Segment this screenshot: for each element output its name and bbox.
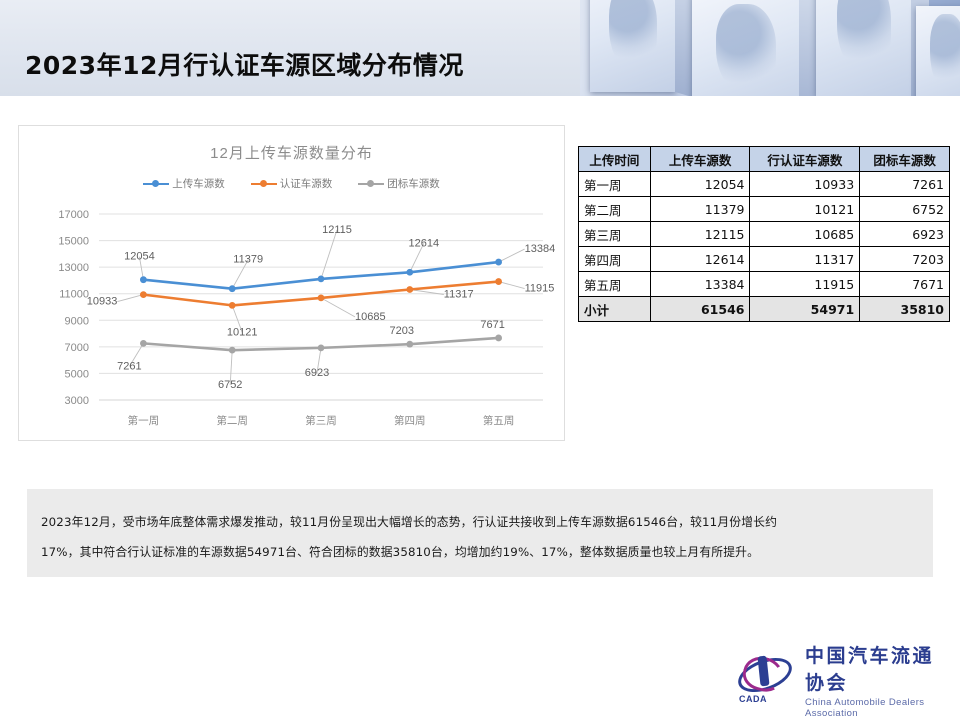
data-label: 11317: [444, 289, 474, 301]
x-axis-tick-label: 第五周: [483, 414, 514, 427]
data-label: 6752: [218, 379, 242, 391]
legend-label-group-std: 团标车源数: [387, 176, 440, 191]
legend-item-uploaded[interactable]: 上传车源数: [143, 176, 225, 191]
cell-uploaded: 11379: [650, 197, 750, 222]
legend-label-uploaded: 上传车源数: [172, 176, 225, 191]
data-label: 12115: [322, 224, 352, 236]
table-row: 第一周12054109337261: [579, 172, 950, 197]
data-label: 10121: [227, 326, 258, 338]
table-header-uploaded: 上传车源数: [650, 147, 750, 172]
data-label: 12614: [409, 237, 440, 249]
y-axis-tick-label: 13000: [58, 262, 89, 274]
series-point: [140, 340, 147, 347]
x-axis-tick-label: 第一周: [128, 414, 160, 427]
note-line-2: 17%，其中符合行认证标准的车源数据54971台、符合团标的数据35810台，均…: [41, 537, 919, 567]
data-label: 11915: [525, 283, 555, 295]
table-header-row: 上传时间 上传车源数 行认证车源数 团标车源数: [579, 147, 950, 172]
cell-week: 第三周: [579, 222, 651, 247]
data-label-leader-line: [117, 295, 143, 302]
y-axis-tick-label: 3000: [65, 395, 89, 407]
y-axis-tick-label: 9000: [65, 315, 89, 327]
series-line-1: [143, 262, 498, 289]
cell-certified: 10933: [750, 172, 860, 197]
y-axis-tick-label: 15000: [58, 236, 89, 248]
cell-week: 第二周: [579, 197, 651, 222]
series-point: [406, 286, 413, 293]
logo-name-en: China Automobile Dealers Association: [805, 697, 945, 719]
data-label-leader-line: [499, 249, 525, 262]
data-label: 10685: [355, 311, 386, 323]
total-uploaded: 61546: [650, 297, 750, 322]
series-point: [495, 335, 502, 342]
legend-label-certified: 认证车源数: [280, 176, 333, 191]
series-point: [406, 269, 413, 276]
series-point: [229, 302, 236, 309]
cell-certified: 10121: [750, 197, 860, 222]
data-label: 10933: [87, 296, 118, 308]
data-label: 12054: [124, 251, 155, 263]
header-decoration-image: [580, 0, 960, 96]
series-point: [140, 291, 147, 298]
y-axis-tick-label: 5000: [65, 368, 89, 380]
organization-logo: CADA 中国汽车流通协会 China Automobile Dealers A…: [735, 652, 945, 708]
data-label-leader-line: [321, 298, 355, 317]
data-table: 上传时间 上传车源数 行认证车源数 团标车源数 第一周1205410933726…: [578, 146, 950, 322]
series-point: [495, 259, 502, 266]
y-axis-tick-label: 7000: [65, 342, 89, 354]
data-label: 7671: [480, 319, 504, 331]
chart-panel: 12月上传车源数量分布 上传车源数 认证车源数 团标车源数 3000500070…: [18, 125, 565, 441]
deco-cube-2: [692, 0, 800, 96]
page-title: 2023年12月行认证车源区域分布情况: [25, 46, 464, 82]
series-point: [318, 294, 325, 301]
line-chart-svg: 300050007000900011000130001500017000第一周第…: [19, 204, 566, 442]
note-box: 2023年12月，受市场年底整体需求爆发推动，较11月份呈现出大幅增长的态势，行…: [27, 489, 933, 577]
data-label: 6923: [305, 367, 329, 379]
data-label: 7203: [390, 325, 414, 337]
cell-group-std: 7261: [860, 172, 950, 197]
series-point: [229, 285, 236, 292]
data-label: 11379: [233, 254, 263, 266]
deco-cube-1: [590, 0, 676, 92]
table-total-row: 小计615465497135810: [579, 297, 950, 322]
cell-uploaded: 12054: [650, 172, 750, 197]
cell-uploaded: 13384: [650, 272, 750, 297]
table-row: 第五周13384119157671: [579, 272, 950, 297]
data-label-leader-line: [321, 230, 337, 279]
chart-legend: 上传车源数 认证车源数 团标车源数: [19, 176, 564, 191]
cell-week: 第一周: [579, 172, 651, 197]
legend-item-group-std[interactable]: 团标车源数: [358, 176, 440, 191]
x-axis-tick-label: 第二周: [216, 414, 248, 427]
total-group-std: 35810: [860, 297, 950, 322]
data-label: 13384: [525, 243, 556, 255]
note-line-1: 2023年12月，受市场年底整体需求爆发推动，较11月份呈现出大幅增长的态势，行…: [41, 507, 919, 537]
legend-marker-uploaded-icon: [143, 179, 169, 188]
cada-emblem-icon: CADA: [735, 655, 797, 705]
table-header-group-std: 团标车源数: [860, 147, 950, 172]
table-body: 第一周12054109337261第二周11379101216752第三周121…: [579, 172, 950, 322]
table-header-certified: 行认证车源数: [750, 147, 860, 172]
y-axis-tick-label: 11000: [59, 289, 89, 301]
cell-uploaded: 12614: [650, 247, 750, 272]
x-axis-tick-label: 第三周: [305, 414, 337, 427]
series-point: [495, 278, 502, 285]
cell-group-std: 7671: [860, 272, 950, 297]
cell-certified: 11915: [750, 272, 860, 297]
cell-group-std: 6752: [860, 197, 950, 222]
data-label-leader-line: [499, 282, 525, 289]
total-certified: 54971: [750, 297, 860, 322]
logo-name-cn: 中国汽车流通协会: [805, 641, 945, 695]
data-label: 7261: [117, 360, 141, 372]
series-point: [406, 341, 413, 348]
deco-cube-3: [816, 0, 912, 96]
table-header-time: 上传时间: [579, 147, 651, 172]
chart-title: 12月上传车源数量分布: [19, 142, 564, 163]
series-point: [229, 347, 236, 354]
total-label: 小计: [579, 297, 651, 322]
cell-group-std: 6923: [860, 222, 950, 247]
table-row: 第四周12614113177203: [579, 247, 950, 272]
legend-item-certified[interactable]: 认证车源数: [251, 176, 333, 191]
table-row: 第三周12115106856923: [579, 222, 950, 247]
series-point: [318, 276, 325, 283]
deco-cube-4: [916, 6, 960, 96]
legend-marker-group-std-icon: [358, 179, 384, 188]
series-point: [318, 344, 325, 351]
x-axis-tick-label: 第四周: [394, 414, 426, 427]
legend-marker-certified-icon: [251, 179, 277, 188]
y-axis-tick-label: 17000: [58, 209, 89, 221]
cell-week: 第四周: [579, 247, 651, 272]
chart-plot-area: 300050007000900011000130001500017000第一周第…: [19, 204, 566, 442]
cell-uploaded: 12115: [650, 222, 750, 247]
cell-week: 第五周: [579, 272, 651, 297]
table-row: 第二周11379101216752: [579, 197, 950, 222]
logo-abbr: CADA: [739, 694, 767, 704]
cell-group-std: 7203: [860, 247, 950, 272]
series-point: [140, 276, 147, 283]
cell-certified: 11317: [750, 247, 860, 272]
cell-certified: 10685: [750, 222, 860, 247]
